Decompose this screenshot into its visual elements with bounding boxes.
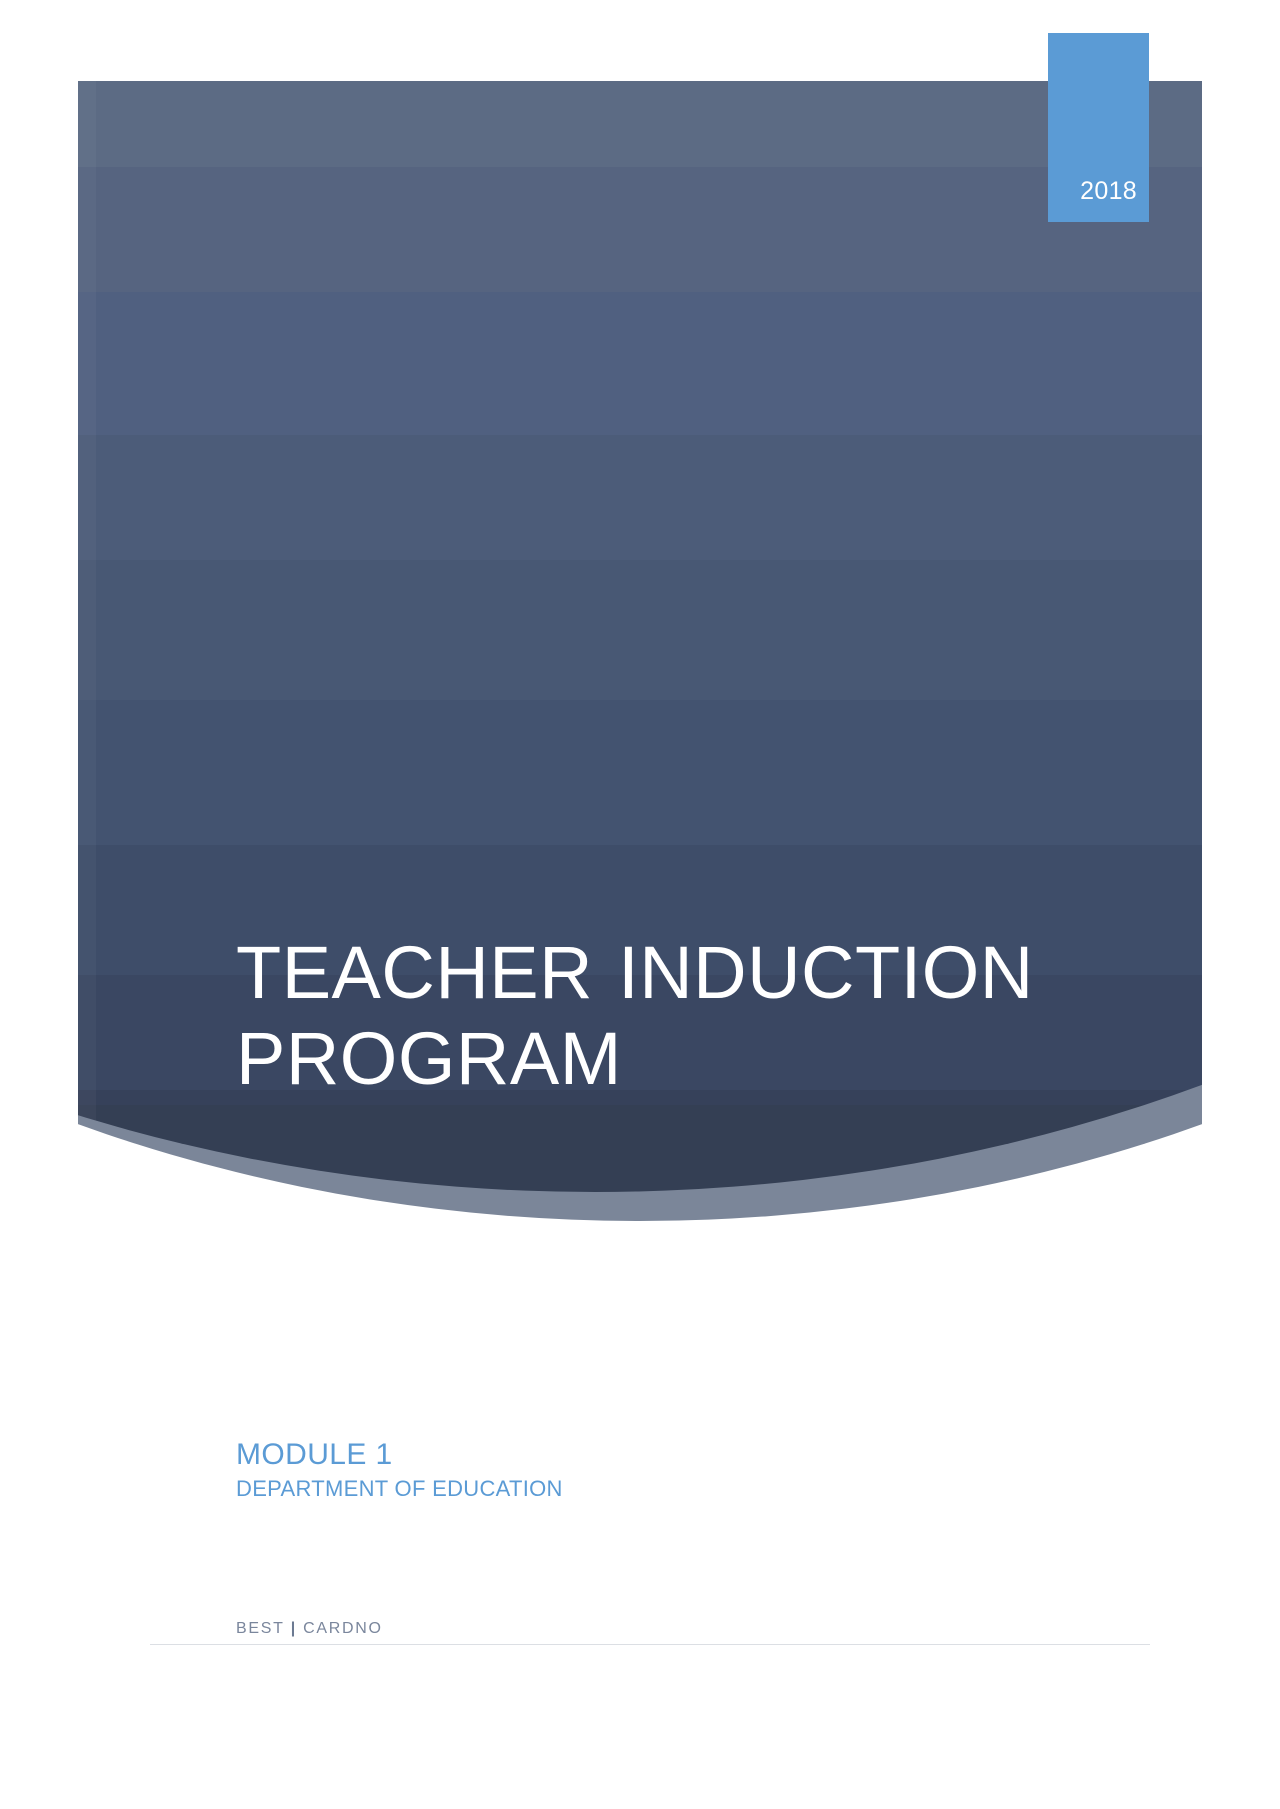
- cover-page: 2018 Teacher Induction Program Module 1 …: [0, 0, 1280, 1809]
- year-badge: 2018: [1048, 33, 1149, 222]
- footer-divider: [150, 1644, 1150, 1645]
- year-badge-value: 2018: [1080, 179, 1137, 204]
- footer-partner: CARDNO: [303, 1620, 383, 1637]
- subtitle-group: Module 1 Department of Education: [236, 1437, 563, 1504]
- footer-organization: BEST: [236, 1620, 285, 1637]
- footer-separator: |: [285, 1620, 303, 1637]
- subtitle-department: Department of Education: [236, 1475, 563, 1504]
- footer: BEST | CARDNO: [150, 1620, 1150, 1645]
- footer-credits: BEST | CARDNO: [150, 1620, 1150, 1644]
- subtitle-module: Module 1: [236, 1437, 563, 1472]
- page-title: Teacher Induction Program: [236, 930, 1036, 1103]
